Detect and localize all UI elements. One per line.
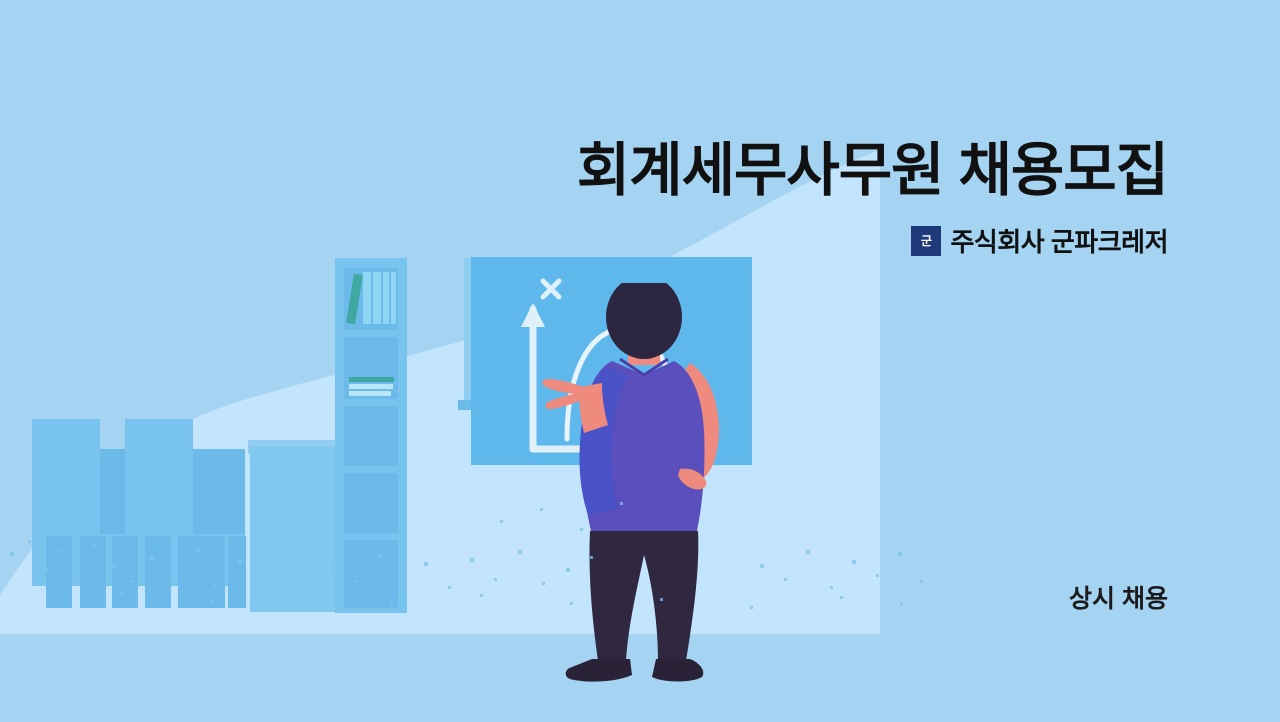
book-spine [383,272,389,324]
wall-panel [464,258,471,408]
company-badge-icon: 군 [911,226,941,256]
book-stacked [349,391,391,396]
book-spine [373,272,381,324]
book-stacked [349,384,393,389]
speckle-texture [0,480,1280,640]
book-spine [363,272,371,324]
status-badge: 상시 채용 [1069,579,1168,615]
company-row: 군 주식회사 군파크레저 [911,222,1168,259]
wall-panel-foot [458,400,472,410]
shoe-left [566,659,632,682]
shoe-right [652,659,703,682]
book-spine [391,272,396,324]
hair-back [618,313,670,352]
book-stacked [349,377,394,382]
recruitment-banner: 회계세무사무원 채용모집 군 주식회사 군파크레저 상시 채용 [0,0,1280,722]
page-title: 회계세무사무원 채용모집 [577,139,1168,203]
bookshelf-cell [344,337,398,399]
company-name: 주식회사 군파크레저 [950,222,1168,259]
bookshelf-cell [344,406,398,466]
